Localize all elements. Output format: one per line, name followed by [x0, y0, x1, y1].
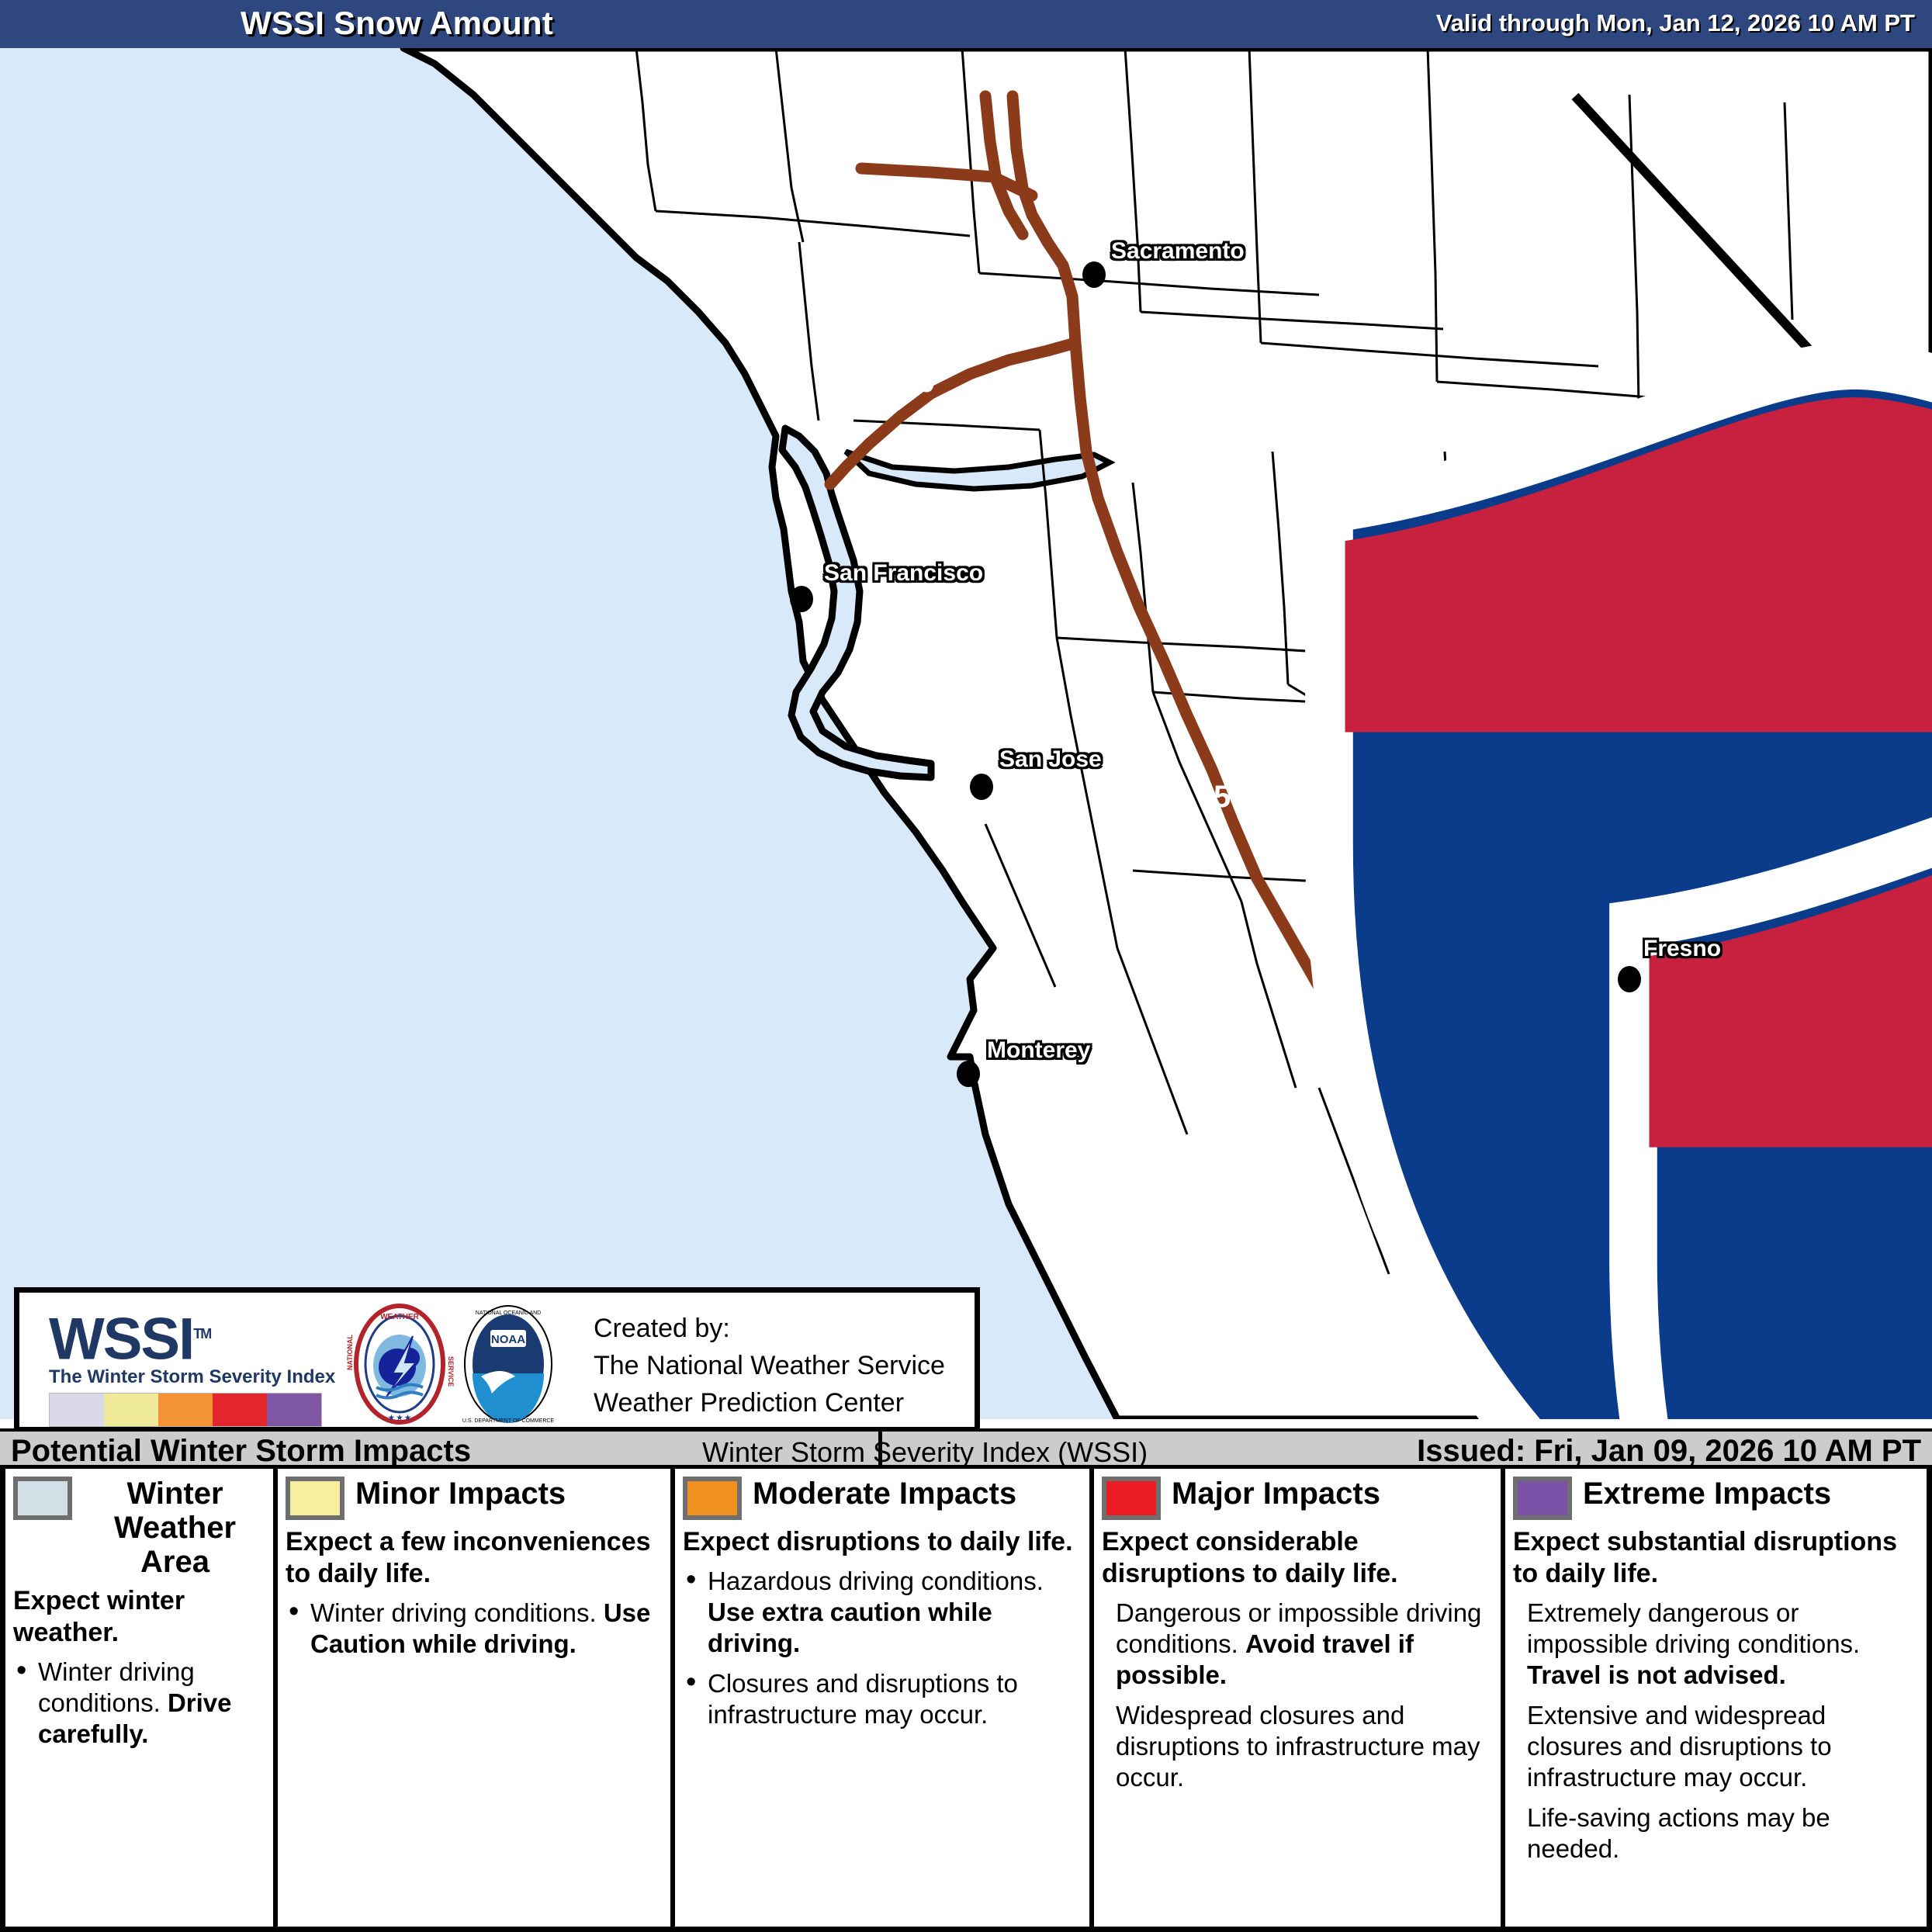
svg-text:WEATHER: WEATHER	[380, 1313, 420, 1321]
bullet-normal-text: Winter driving conditions.	[310, 1598, 604, 1627]
legend-bullet: Hazardous driving conditions. Use extra …	[683, 1566, 1083, 1659]
bullet-bold-text: Use extra caution while driving.	[708, 1598, 992, 1657]
wssi-tagline: The Winter Storm Severity Index	[49, 1366, 336, 1388]
impact-legend: Winter Weather Area Expect winter weathe…	[0, 1469, 1932, 1932]
legend-column-major-impacts[interactable]: Major Impacts Expect considerable disrup…	[1089, 1469, 1501, 1927]
wssi-logo: WSSITM The Winter Storm Severity Index	[49, 1304, 336, 1427]
city-label-san-francisco: San Francisco	[824, 560, 983, 587]
legend-bullet: Winter driving conditions. Use Caution w…	[286, 1598, 664, 1660]
svg-text:NATIONAL: NATIONAL	[346, 1335, 354, 1370]
city-dot-fresno	[1618, 966, 1641, 992]
legend-column-winter-weather-area[interactable]: Winter Weather Area Expect winter weathe…	[5, 1469, 273, 1927]
created-by-line-1: Created by:	[594, 1310, 945, 1347]
legend-bullet: Dangerous or impossible driving conditio…	[1102, 1598, 1494, 1691]
legend-bullet: Extremely dangerous or impossible drivin…	[1513, 1598, 1920, 1691]
attribution-box: WSSITM The Winter Storm Severity Index W…	[14, 1287, 980, 1432]
valid-through-text: Valid through Mon, Jan 12, 2026 10 AM PT	[1436, 9, 1915, 37]
legend-bullets-extreme-impacts: Extremely dangerous or impossible drivin…	[1513, 1598, 1920, 1864]
bullet-normal-text: Hazardous driving conditions.	[708, 1567, 1044, 1595]
bullet-normal-text: Closures and disruptions to infrastructu…	[708, 1669, 1018, 1729]
bullet-normal-text: Life-saving actions may be needed.	[1527, 1803, 1830, 1863]
impacts-bar-title: Potential Winter Storm Impacts	[11, 1434, 471, 1469]
impacts-bar: Potential Winter Storm Impacts Winter St…	[0, 1428, 1932, 1469]
wssi-snow-amount-page: WSSI Snow Amount Valid through Mon, Jan …	[0, 0, 1932, 1932]
city-dot-san-francisco	[790, 586, 813, 612]
legend-summary-moderate-impacts: Expect disruptions to daily life.	[683, 1526, 1083, 1558]
national-weather-service-seal: WEATHER ★ ★ ★ NATIONAL SERVICE	[341, 1302, 458, 1426]
svg-text:★ ★ ★: ★ ★ ★	[388, 1414, 411, 1421]
city-label-monterey: Monterey	[987, 1037, 1090, 1064]
interstate-shield-5: 5	[1193, 749, 1251, 815]
legend-title-major-impacts: Major Impacts	[1172, 1477, 1380, 1511]
legend-title-winter-weather-area: Winter Weather Area	[83, 1477, 267, 1579]
legend-title-moderate-impacts: Moderate Impacts	[753, 1477, 1016, 1511]
legend-bullet: Extensive and widespread closures and di…	[1513, 1700, 1920, 1793]
wssi-color-ramp	[49, 1393, 322, 1427]
legend-bullet: Widespread closures and disruptions to i…	[1102, 1700, 1494, 1793]
ramp-swatch-moderate	[158, 1394, 213, 1426]
legend-summary-major-impacts: Expect considerable disruptions to daily…	[1102, 1526, 1494, 1590]
legend-header: Major Impacts	[1102, 1477, 1494, 1520]
legend-swatch-major-impacts	[1102, 1477, 1161, 1520]
legend-summary-minor-impacts: Expect a few inconveniences to daily lif…	[286, 1526, 664, 1590]
city-dot-monterey	[957, 1061, 980, 1087]
interstate-shield-80: 80	[889, 334, 947, 400]
shield-number-80: 80	[889, 365, 947, 400]
city-label-fresno: Fresno	[1643, 936, 1721, 962]
city-dot-sacramento	[1082, 261, 1106, 288]
svg-text:U.S. DEPARTMENT OF COMMERCE: U.S. DEPARTMENT OF COMMERCE	[462, 1418, 555, 1424]
created-by-line-3: Weather Prediction Center	[594, 1384, 945, 1421]
legend-column-minor-impacts[interactable]: Minor Impacts Expect a few inconvenience…	[273, 1469, 670, 1927]
legend-header: Winter Weather Area	[13, 1477, 267, 1579]
created-by-line-2: The National Weather Service	[594, 1347, 945, 1384]
city-label-san-jose: San Jose	[999, 746, 1102, 773]
ramp-swatch-extreme	[267, 1394, 321, 1426]
legend-title-extreme-impacts: Extreme Impacts	[1583, 1477, 1831, 1511]
bullet-bold-text: Travel is not advised.	[1527, 1660, 1786, 1689]
legend-swatch-moderate-impacts	[683, 1477, 742, 1520]
legend-bullet: Winter driving conditions. Drive careful…	[13, 1657, 267, 1750]
legend-summary-winter-weather-area: Expect winter weather.	[13, 1585, 267, 1649]
bullet-normal-text: Widespread closures and disruptions to i…	[1116, 1701, 1480, 1792]
legend-summary-extreme-impacts: Expect substantial disruptions to daily …	[1513, 1526, 1920, 1590]
legend-column-extreme-impacts[interactable]: Extreme Impacts Expect substantial disru…	[1501, 1469, 1927, 1927]
wssi-wordmark-text: WSSI	[49, 1306, 193, 1372]
page-title: WSSI Snow Amount	[241, 5, 553, 42]
legend-bullets-major-impacts: Dangerous or impossible driving conditio…	[1102, 1598, 1494, 1793]
bullet-normal-text: Extensive and widespread closures and di…	[1527, 1701, 1832, 1792]
city-dot-san-jose	[970, 774, 993, 800]
legend-bullets-moderate-impacts: Hazardous driving conditions. Use extra …	[683, 1566, 1083, 1730]
ramp-swatch-major	[213, 1394, 267, 1426]
legend-bullets-winter-weather-area: Winter driving conditions. Drive careful…	[13, 1657, 267, 1750]
legend-swatch-winter-weather-area	[13, 1477, 72, 1520]
svg-text:NATIONAL OCEANIC AND: NATIONAL OCEANIC AND	[476, 1311, 541, 1316]
ramp-swatch-minor	[104, 1394, 158, 1426]
legend-title-minor-impacts: Minor Impacts	[355, 1477, 566, 1511]
city-label-sacramento: Sacramento	[1111, 238, 1245, 265]
created-by-block: Created by: The National Weather Service…	[594, 1310, 945, 1421]
noaa-seal: NOAA NATIONAL OCEANIC AND U.S. DEPARTMEN…	[450, 1302, 566, 1426]
ramp-swatch-winter-weather	[50, 1394, 104, 1426]
wssi-trademark: TM	[193, 1326, 210, 1342]
legend-header: Extreme Impacts	[1513, 1477, 1920, 1520]
bullet-normal-text: Extremely dangerous or impossible drivin…	[1527, 1598, 1860, 1658]
legend-bullet: Closures and disruptions to infrastructu…	[683, 1668, 1083, 1730]
legend-swatch-extreme-impacts	[1513, 1477, 1572, 1520]
shield-number-5: 5	[1193, 780, 1251, 815]
legend-bullets-minor-impacts: Winter driving conditions. Use Caution w…	[286, 1598, 664, 1660]
legend-column-moderate-impacts[interactable]: Moderate Impacts Expect disruptions to d…	[670, 1469, 1089, 1927]
legend-header: Minor Impacts	[286, 1477, 664, 1520]
legend-bullet: Life-saving actions may be needed.	[1513, 1802, 1920, 1864]
wssi-wordmark: WSSITM	[49, 1304, 336, 1369]
impacts-bar-subtitle: Winter Storm Severity Index (WSSI)	[702, 1436, 1148, 1469]
legend-header: Moderate Impacts	[683, 1477, 1083, 1520]
svg-text:NOAA: NOAA	[491, 1333, 525, 1346]
issued-text: Issued: Fri, Jan 09, 2026 10 AM PT	[1417, 1434, 1921, 1469]
map-canvas[interactable]: 80 5 Sacramento San Francisco San Jose F…	[0, 48, 1932, 1419]
legend-swatch-minor-impacts	[286, 1477, 345, 1520]
page-header: WSSI Snow Amount Valid through Mon, Jan …	[0, 0, 1932, 48]
